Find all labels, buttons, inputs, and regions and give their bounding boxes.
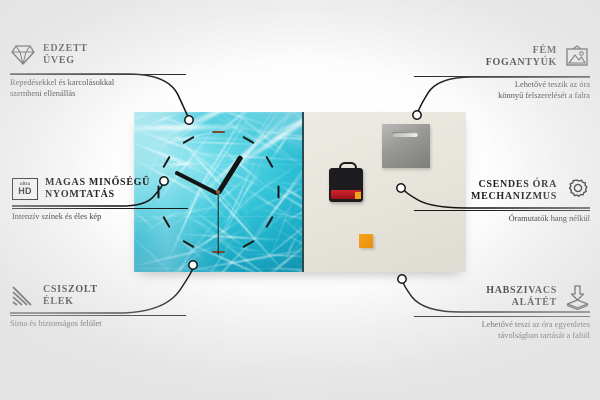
hd-badge-bottom: HD: [18, 187, 32, 196]
feature-title: FÉM FOGANTYÚK: [486, 45, 557, 69]
picture-frame-hanger-icon: [564, 44, 590, 70]
battery-terminal: [355, 192, 361, 199]
feature-title-line2: FOGANTYÚK: [486, 57, 557, 68]
feature-header: CSISZOLT ÉLEK: [10, 279, 186, 313]
feature-description: Intenzív színek és éles kép: [12, 212, 188, 223]
feature-header: FÉM FOGANTYÚK: [414, 40, 590, 74]
foam-pad-icon: [564, 284, 590, 310]
feature-title-line2: ÜVEG: [43, 55, 75, 66]
feature-divider: [10, 315, 186, 316]
hanger-slot: [392, 132, 418, 137]
feature-polished-edges: CSISZOLT ÉLEK Sima és biztonságos felüle…: [10, 279, 186, 330]
feature-title-line2: MECHANIZMUS: [471, 191, 557, 202]
feature-desc-line1: Óramutatók hang nélkül: [509, 214, 590, 223]
feature-title-line1: CSISZOLT: [43, 284, 98, 295]
feature-title-line2: NYOMTATÁS: [45, 189, 115, 200]
feature-description: Sima és biztonságos felület: [10, 319, 186, 330]
feature-title-line1: EDZETT: [43, 43, 88, 54]
feature-title-line2: ALÁTÉT: [512, 297, 557, 308]
feature-header: CSENDES ÓRA MECHANIZMUS: [414, 174, 590, 208]
feature-desc-line1: Repedésekkel és karcolásokkal: [10, 78, 114, 87]
gear-icon: [564, 178, 590, 204]
feature-metal-handles: FÉM FOGANTYÚK Lehetővé teszik az óra kön…: [414, 40, 590, 101]
clock-tick: [277, 186, 279, 199]
feature-description: Óramutatók hang nélkül: [414, 214, 590, 225]
feature-title-line1: FÉM: [533, 45, 557, 56]
feature-description: Repedésekkel és karcolásokkal szembeni e…: [10, 78, 186, 99]
infographic-canvas: EDZETT ÜVEG Repedésekkel és karcolásokka…: [0, 0, 600, 400]
feature-desc-line2: könnyű felszerelését a falra: [498, 91, 590, 100]
feature-divider: [414, 210, 590, 211]
feature-desc-line2: szembeni ellenállás: [10, 89, 75, 98]
feature-desc-line1: Sima és biztonságos felület: [10, 319, 101, 328]
feature-desc-line1: Lehetővé teszik az óra: [515, 80, 590, 89]
feature-desc-line1: Intenzív színek és éles kép: [12, 212, 101, 221]
metal-hanger-part: [382, 124, 430, 168]
feature-foam-underlay: HABSZIVACS ALÁTÉT Lehetővé teszi az óra …: [414, 280, 590, 341]
feature-divider: [414, 76, 590, 77]
diamond-icon: [10, 42, 36, 68]
feature-title: CSISZOLT ÉLEK: [43, 284, 98, 308]
feature-header: ultra HD MAGAS MINŐSÉGŰ NYOMTATÁS: [12, 172, 188, 206]
clock-mechanism-part: [329, 168, 363, 202]
feature-desc-line1: Lehetővé teszi az óra egyenletes: [482, 320, 590, 329]
feature-title-line1: CSENDES ÓRA: [478, 179, 557, 190]
feature-title: EDZETT ÜVEG: [43, 43, 88, 67]
feature-header: EDZETT ÜVEG: [10, 38, 186, 72]
mechanism-loop: [339, 162, 357, 174]
feature-divider: [10, 74, 186, 75]
feature-desc-line2: távolságban tartását a faltól: [498, 331, 590, 340]
feature-divider: [414, 316, 590, 317]
feature-description: Lehetővé teszi az óra egyenletes távolsá…: [414, 320, 590, 341]
feature-title: MAGAS MINŐSÉGŰ NYOMTATÁS: [45, 177, 150, 201]
foam-pad-part: [359, 234, 373, 248]
ultra-hd-icon: ultra HD: [12, 176, 38, 202]
feature-divider: [12, 208, 188, 209]
feature-title-line1: HABSZIVACS: [486, 285, 557, 296]
feature-tempered-glass: EDZETT ÜVEG Repedésekkel és karcolásokka…: [10, 38, 186, 99]
feature-header: HABSZIVACS ALÁTÉT: [414, 280, 590, 314]
clock-center-pin: [216, 190, 220, 194]
feature-title-line2: ÉLEK: [43, 296, 74, 307]
feature-description: Lehetővé teszik az óra könnyű felszerelé…: [414, 80, 590, 101]
feature-title-line1: MAGAS MINŐSÉGŰ: [45, 177, 150, 188]
feature-silent-mechanism: CSENDES ÓRA MECHANIZMUS Óramutatók hang …: [414, 174, 590, 225]
clock-second-hand: [217, 193, 218, 255]
feature-high-quality-print: ultra HD MAGAS MINŐSÉGŰ NYOMTATÁS Intenz…: [12, 172, 188, 223]
polished-edge-icon: [10, 283, 36, 309]
feature-title: HABSZIVACS ALÁTÉT: [486, 285, 557, 309]
feature-title: CSENDES ÓRA MECHANIZMUS: [471, 179, 557, 203]
connector-dot-foam-underlay: [398, 275, 406, 283]
clock-tick: [212, 131, 225, 133]
